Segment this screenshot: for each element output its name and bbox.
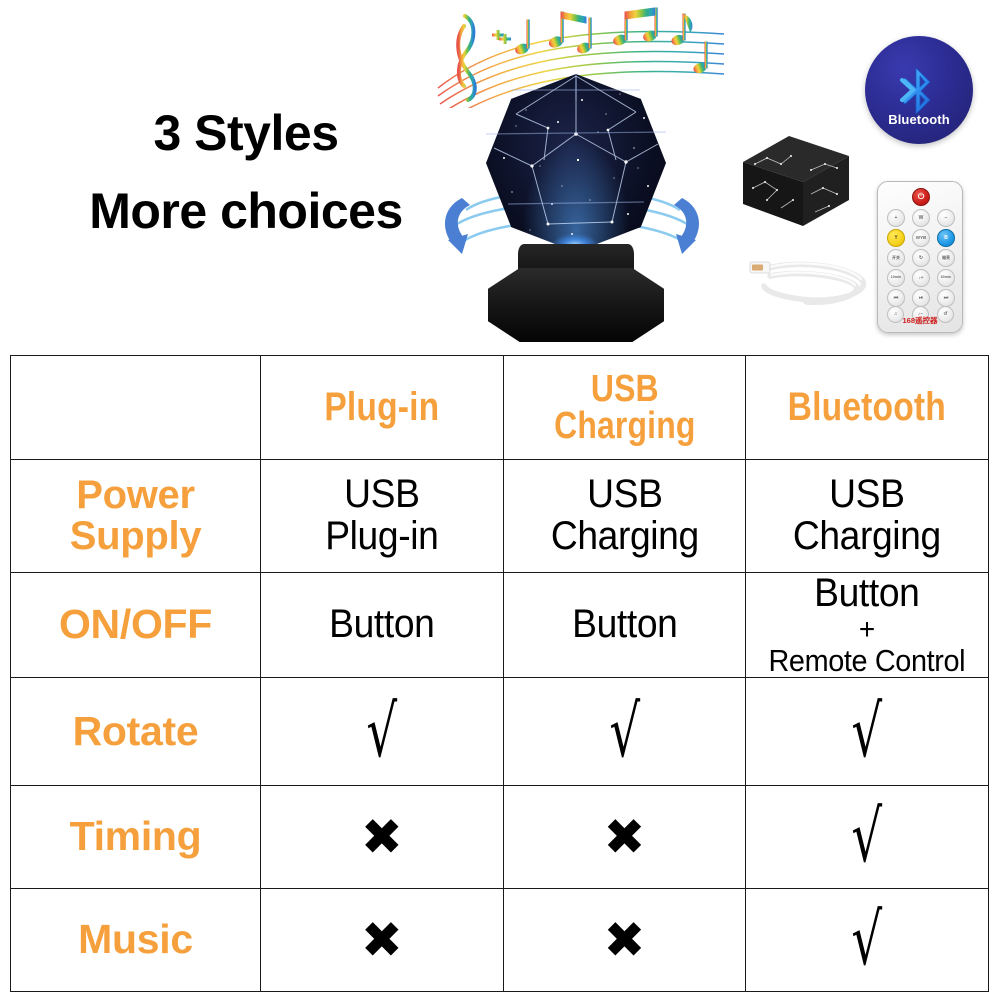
hero-banner: 3 Styles More choices [0,0,1000,355]
table-row-power-supply: Power Supply USB Plug-in USB Charging US… [11,460,989,573]
remote-button-volume-up: ♪+ [912,269,930,287]
remote-button-timer-10min: 10min [887,269,905,287]
bluetooth-badge-label: Bluetooth [865,112,973,127]
cross-icon: ✖ [361,915,403,965]
remote-button-brightness: 暗亮 [937,249,955,267]
usb-cable-icon [744,246,872,316]
check-icon: √ [852,801,883,872]
constellation-gift-box-icon [737,126,855,232]
cell-rotate-bluetooth: √ [746,678,989,786]
cell-music-bluetooth: √ [746,889,989,992]
row-label-timing: Timing [11,786,261,889]
remote-button-w: W [912,209,930,227]
table-row-on-off: ON/OFF Button Button Button + Remote Con… [11,573,989,678]
bluetooth-rune-icon [896,66,942,116]
cell-music-plug-in: ✖ [261,889,504,992]
cell-music-usb-charging: ✖ [503,889,746,992]
remote-button-minus: − [937,209,955,227]
cell-timing-plug-in: ✖ [261,786,504,889]
remote-button-wyb: WYB [912,229,930,247]
cell-timing-usb-charging: ✖ [503,786,746,889]
constellation-lines [486,74,666,252]
comparison-table: Plug-in USB Charging Bluetooth Power Sup… [10,355,989,992]
check-icon: √ [852,696,883,767]
cell-timing-bluetooth: √ [746,786,989,889]
remote-control-icon: ⏻ + W − Y WYB B 开关 ↻ 暗亮 10min ♪+ 60min ⏮… [877,181,963,333]
headline-line-1: 3 Styles [46,108,446,158]
remote-button-switch: 开关 [887,249,905,267]
check-icon: √ [609,696,640,767]
table-row-rotate: Rotate √ √ √ [11,678,989,786]
table-row-music: Music ✖ ✖ √ [11,889,989,992]
cell-power-plug-in: USB Plug-in [261,460,504,573]
remote-button-previous: ⏮ [887,289,905,307]
cross-icon: ✖ [361,812,403,862]
remote-button-b: B [937,229,955,247]
bluetooth-badge: Bluetooth [865,36,973,144]
column-header-bluetooth: Bluetooth [746,356,989,460]
cross-icon: ✖ [604,812,646,862]
headline-line-2: More choices [46,186,446,236]
column-header-usb-charging-label: USB Charging [523,371,726,445]
cell-onoff-bluetooth: Button + Remote Control [746,573,989,678]
remote-button-rotate: ↻ [912,249,930,267]
column-header-plug-in: Plug-in [261,356,504,460]
table-header-row: Plug-in USB Charging Bluetooth [11,356,989,460]
row-label-rotate: Rotate [11,678,261,786]
check-icon: √ [366,696,397,767]
star-projector-lamp-icon [432,68,712,358]
remote-button-next: ⏭ [937,289,955,307]
row-label-music: Music [11,889,261,992]
cell-rotate-plug-in: √ [261,678,504,786]
remote-button-plus: + [887,209,905,227]
table-row-timing: Timing ✖ ✖ √ [11,786,989,889]
cell-power-usb-charging: USB Charging [503,460,746,573]
cell-rotate-usb-charging: √ [503,678,746,786]
column-header-bluetooth-label: Bluetooth [766,388,969,427]
lamp-base [488,268,664,342]
column-header-usb-charging: USB Charging [503,356,746,460]
column-header-plug-in-label: Plug-in [280,388,483,427]
remote-button-y: Y [887,229,905,247]
cell-power-bluetooth: USB Charging [746,460,989,573]
row-label-power-supply: Power Supply [11,460,261,573]
cross-icon: ✖ [604,915,646,965]
cell-onoff-plug-in: Button [261,573,504,678]
remote-button-play-pause: ⏯ [912,289,930,307]
remote-power-button: ⏻ [912,188,930,206]
table-corner-cell [11,356,261,460]
star-globe [486,74,666,252]
remote-button-timer-60min: 60min [937,269,955,287]
remote-model-label: 168遥控器 [878,315,962,326]
check-icon: √ [852,904,883,975]
row-label-on-off: ON/OFF [11,573,261,678]
cell-onoff-usb-charging: Button [503,573,746,678]
